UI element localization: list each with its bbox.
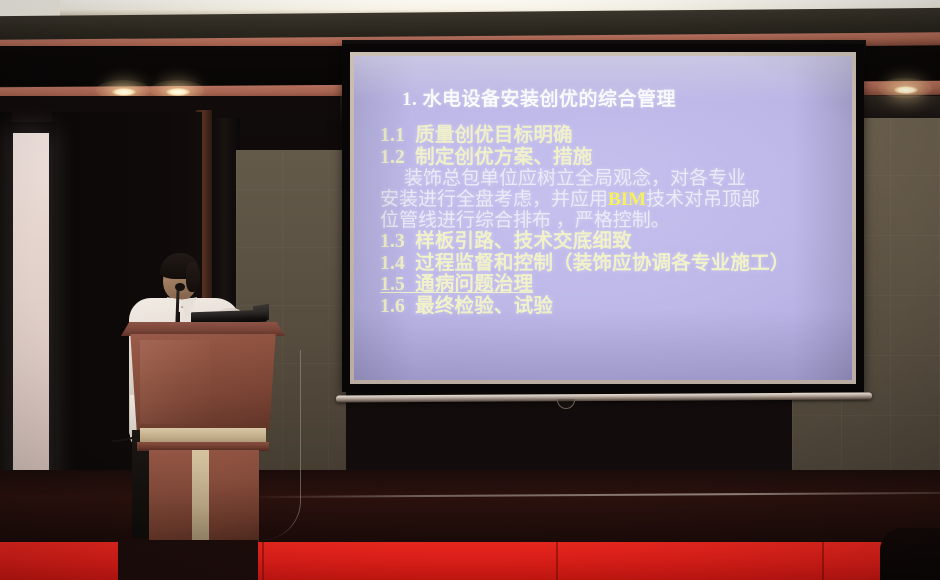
microphone-head (175, 283, 185, 291)
podium-front-panel (124, 334, 282, 430)
conference-room-photo: 1. 水电设备安装创优的综合管理 1.1 质量创优目标明确 1.2 制定创优方案… (0, 0, 940, 580)
carpet-seam-1 (262, 542, 264, 580)
wall-light-panel (13, 133, 49, 513)
carpet-seam-3 (822, 542, 824, 580)
slide-content: 1. 水电设备安装创优的综合管理 1.1 质量创优目标明确 1.2 制定创优方案… (354, 56, 852, 316)
podium-base-stripe (192, 450, 209, 542)
carpet-shadow-block (118, 540, 258, 580)
slide-line-1-3: 1.3 样板引路、技术交底细致 (380, 232, 834, 252)
slide-title: 1. 水电设备安装创优的综合管理 (402, 90, 834, 109)
slide-body-line-3: 位管线进行综合排布 ，严格控制。 (380, 211, 834, 230)
ceiling-light-right (894, 86, 918, 94)
slide-line-1-2: 1.2 制定创优方案、措施 (380, 148, 834, 168)
slide-body-line-2-part-a: 安装进行全盘考虑，并应用 (380, 189, 608, 210)
slide-body-line-2: 安装进行全盘考虑，并应用BIM技术对吊顶部 (380, 190, 834, 209)
ceiling-light-mid (166, 88, 190, 96)
carpet-right-shadow (880, 528, 940, 580)
slide-line-1-4: 1.4 过程监督和控制（装饰应协调各专业施工） (380, 254, 834, 274)
screen-pull-ring (557, 399, 575, 409)
slide-line-1-5: 1.5 通病问题治理 (380, 275, 834, 295)
slide-emphasis-bim: BIM (608, 189, 646, 210)
slide-line-1-6: 1.6 最终检验、试验 (380, 297, 834, 317)
podium-top-surface (121, 322, 285, 336)
slide-line-1-1: 1.1 质量创优目标明确 (380, 126, 834, 146)
carpet-seam-2 (556, 542, 558, 580)
slide-body-line-1: 装饰总包单位应树立全局观念，对各专业 (380, 169, 834, 188)
projection-screen: 1. 水电设备安装创优的综合管理 1.1 质量创优目标明确 1.2 制定创优方案… (354, 56, 852, 380)
ceiling-light-left (112, 88, 136, 96)
slide-body-line-2-part-c: 技术对吊顶部 (646, 189, 760, 210)
presenter-hair-side (186, 262, 200, 292)
